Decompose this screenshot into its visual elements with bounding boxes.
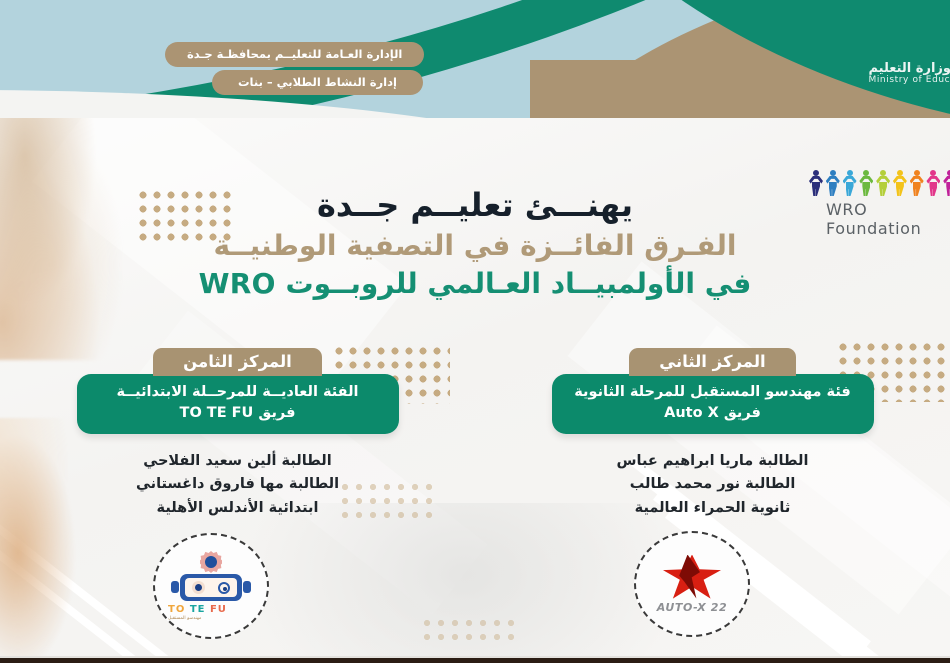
to-te-fu-robot-icon: TO TE FU مهندسو المستقبل bbox=[168, 551, 254, 621]
winning-teams-section: المركز الثاني فئة مهندسو المستقبل للمرحل… bbox=[0, 348, 950, 648]
rank-badge-eighth-place: المركز الثامن bbox=[153, 348, 322, 376]
robot-eye-icon bbox=[218, 582, 230, 594]
wro-people-icon bbox=[808, 168, 950, 196]
category-label: الفئة العاديــة للمرحــلة الابتدائيــة bbox=[87, 382, 389, 403]
member-name: الطالبة ألين سعيد الفلاحي bbox=[0, 450, 475, 473]
auto-x-logo-text: AUTO-X 22 bbox=[646, 601, 738, 614]
robot-face-icon bbox=[185, 578, 237, 597]
ministry-name-english: Ministry of Education bbox=[868, 76, 950, 86]
wro-person-icon bbox=[875, 170, 891, 196]
members-list-to-te-fu: الطالبة ألين سعيد الفلاحي الطالبة مها فا… bbox=[0, 450, 475, 520]
wro-foundation-logo: WRO Foundation bbox=[808, 168, 950, 238]
team-prefix-label: فريق bbox=[258, 405, 295, 421]
wro-person-icon bbox=[925, 170, 941, 196]
team-logo-circle-to-te-fu: TO TE FU مهندسو المستقبل bbox=[153, 533, 269, 639]
members-list-auto-x: الطالبة ماريا ابراهيم عباس الطالبة نور م… bbox=[475, 450, 950, 520]
headline-line-3-arabic: في الأولمبيــاد العـالمي للروبــوت bbox=[286, 267, 752, 300]
headline-line-3: في الأولمبيــاد العـالمي للروبــوت WRO bbox=[0, 266, 950, 302]
team-name-row: فريق Auto X bbox=[562, 403, 864, 425]
ministry-of-education-wordmark: وزارة التعليم Ministry of Education bbox=[868, 62, 950, 86]
team-name-row: فريق TO TE FU bbox=[87, 403, 389, 425]
department-pill-general-administration: الإدارة العـامة للتعليــم بمحافظـة جـدة bbox=[165, 42, 424, 67]
top-banner bbox=[0, 0, 950, 122]
department-pill-student-activity: إدارة النشاط الطلابي – بنات bbox=[212, 70, 423, 95]
wro-person-icon bbox=[858, 170, 874, 196]
wro-person-icon bbox=[842, 170, 858, 196]
member-name: الطالبة مها فاروق داغستاني bbox=[0, 473, 475, 496]
member-name: الطالبة ماريا ابراهيم عباس bbox=[475, 450, 950, 473]
poster-canvas: وزارة التعليم Ministry of Education الإد… bbox=[0, 0, 950, 663]
gear-icon bbox=[200, 551, 222, 573]
team-prefix-label: فريق bbox=[724, 405, 761, 421]
wro-person-icon bbox=[892, 170, 908, 196]
wro-foundation-label: WRO Foundation bbox=[808, 200, 950, 238]
robot-eye-icon bbox=[192, 581, 205, 594]
to-te-fu-tagline: مهندسو المستقبل bbox=[168, 616, 254, 621]
brand-part-te: TE bbox=[190, 604, 206, 615]
school-name: ثانوية الحمراء العالمية bbox=[475, 497, 950, 520]
member-name: الطالبة نور محمد طالب bbox=[475, 473, 950, 496]
school-name: ابتدائية الأندلس الأهلية bbox=[0, 497, 475, 520]
wro-person-icon bbox=[909, 170, 925, 196]
category-label: فئة مهندسو المستقبل للمرحلة الثانوية bbox=[562, 382, 864, 403]
headline-line-3-latin: WRO bbox=[199, 266, 276, 302]
team-name: TO TE FU bbox=[180, 403, 254, 425]
footer-dark-strip bbox=[0, 658, 950, 663]
to-te-fu-brand-text: TO TE FU bbox=[168, 604, 254, 615]
ministry-name-arabic: وزارة التعليم bbox=[868, 62, 950, 76]
robot-head-icon bbox=[180, 574, 242, 601]
category-card-secondary: فئة مهندسو المستقبل للمرحلة الثانوية فري… bbox=[552, 374, 874, 434]
auto-x-star-icon: AUTO-X 22 bbox=[646, 555, 738, 614]
brand-part-fu: FU bbox=[210, 604, 227, 615]
wro-person-icon bbox=[808, 170, 824, 196]
wro-person-icon bbox=[825, 170, 841, 196]
brand-part-to: TO bbox=[168, 604, 185, 615]
rank-badge-second-place: المركز الثاني bbox=[629, 348, 795, 376]
team-name: Auto X bbox=[664, 403, 719, 425]
category-card-elementary: الفئة العاديــة للمرحــلة الابتدائيــة ف… bbox=[77, 374, 399, 434]
team-logo-circle-auto-x: AUTO-X 22 bbox=[634, 531, 750, 637]
wro-person-icon bbox=[942, 170, 950, 196]
